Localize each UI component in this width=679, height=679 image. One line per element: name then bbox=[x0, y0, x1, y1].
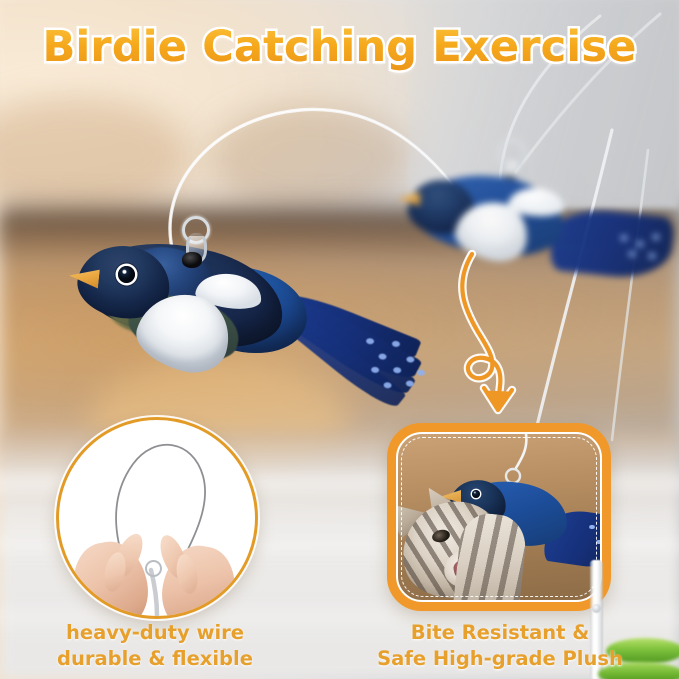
feature-inset-wire[interactable] bbox=[56, 417, 258, 619]
caption-wire-line2: durable & flexible bbox=[10, 646, 300, 672]
pole-knob bbox=[592, 604, 601, 613]
main-birdie-toy bbox=[72, 232, 382, 407]
wire-ring-detail bbox=[145, 560, 162, 577]
curly-arrow-icon bbox=[436, 246, 556, 426]
tail-spot bbox=[406, 380, 415, 387]
product-image-canvas: Birdie Catching Exercise Birdie Catching… bbox=[0, 0, 679, 679]
clasp-hardware bbox=[176, 216, 210, 268]
inset-cat bbox=[396, 490, 534, 602]
inset-bird-tail-spots bbox=[586, 522, 602, 554]
bird-eye bbox=[118, 266, 135, 283]
clasp-knot bbox=[182, 252, 202, 268]
caption-plush-line1: Bite Resistant & bbox=[350, 620, 650, 646]
page-title: Birdie Catching Exercise bbox=[0, 22, 679, 72]
caption-plush-line2: Safe High-grade Plush bbox=[350, 646, 650, 672]
caption-wire-line1: heavy-duty wire bbox=[10, 620, 300, 646]
caption-plush: Bite Resistant & Safe High-grade Plush bbox=[350, 620, 650, 672]
background-bird-tail-spots bbox=[616, 232, 676, 266]
tail-spot bbox=[417, 369, 426, 376]
feature-inset-plush[interactable] bbox=[387, 423, 611, 611]
caption-wire: heavy-duty wire durable & flexible bbox=[10, 620, 300, 672]
cat-photo bbox=[396, 432, 602, 602]
